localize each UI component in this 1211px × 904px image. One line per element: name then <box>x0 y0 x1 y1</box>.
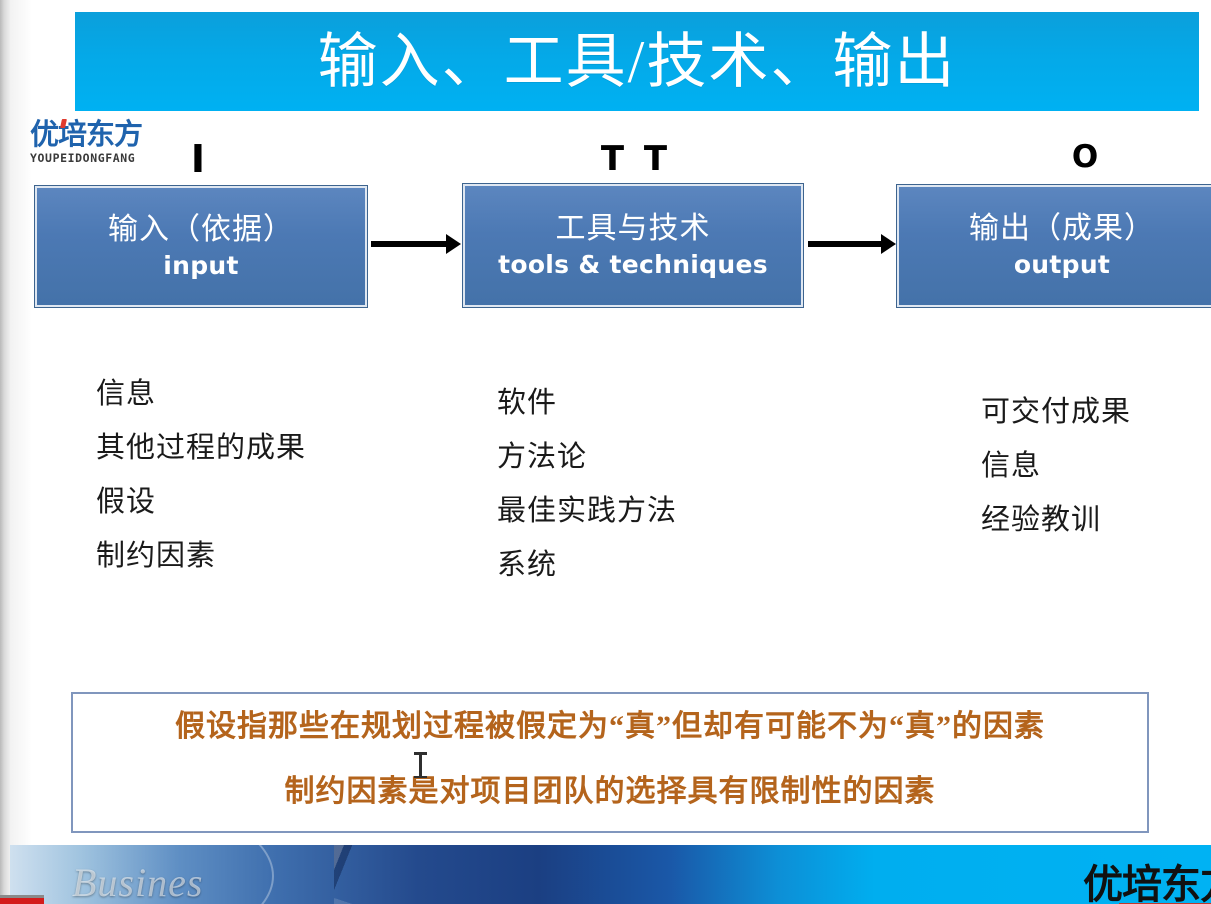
process-box-tools: 工具与技术 tools & techniques <box>463 184 803 307</box>
process-box-input-en: input <box>163 250 239 282</box>
note-line-assumptions: 假设指那些在规划过程被假定为“真”但却有可能不为“真”的因素 <box>175 708 1045 746</box>
arrow-tools-to-output-icon <box>808 241 882 247</box>
taskbar-red-sliver <box>0 898 44 904</box>
label-tools-letter: T T <box>600 142 672 176</box>
process-box-input: 输入（依据） input <box>35 186 367 307</box>
definition-note-box: 假设指那些在规划过程被假定为“真”但却有可能不为“真”的因素 制约因素是对项目团… <box>71 692 1149 833</box>
process-box-output-en: output <box>1014 249 1110 281</box>
list-item: 信息 <box>96 367 306 421</box>
brand-logo-cn-text: 优培东方 <box>30 117 142 151</box>
list-column-output: 可交付成果 信息 经验教训 <box>981 385 1131 547</box>
list-column-tools: 软件 方法论 最佳实践方法 系统 <box>497 376 677 592</box>
note-line-constraints: 制约因素是对项目团队的选择具有限制性的因素 <box>285 773 936 811</box>
brand-logo-en: YOUPEIDONGFANG <box>30 151 170 165</box>
list-item: 最佳实践方法 <box>497 484 677 538</box>
list-column-input: 信息 其他过程的成果 假设 制约因素 <box>96 367 306 583</box>
list-item: 假设 <box>96 475 306 529</box>
footer-keyboard-texture <box>334 845 766 904</box>
list-item: 制约因素 <box>96 529 306 583</box>
slide-left-margin <box>10 0 32 845</box>
brand-logo-cn: 优培东方 <box>30 118 170 150</box>
process-box-input-cn: 输入（依据） <box>108 212 294 248</box>
label-input-letter: I <box>168 140 228 178</box>
process-box-output: 输出（成果） output <box>897 185 1211 307</box>
page-title: 输入、工具/技术、输出 <box>318 32 957 92</box>
list-item: 其他过程的成果 <box>96 421 306 475</box>
process-box-output-cn: 输出（成果） <box>969 211 1155 247</box>
arrow-input-to-tools-icon <box>371 241 447 247</box>
slide-canvas: 输入、工具/技术、输出 优培东方 YOUPEIDONGFANG I T T O … <box>0 0 1211 904</box>
window-left-edge <box>0 0 10 904</box>
process-box-tools-en: tools & techniques <box>498 249 768 281</box>
list-item: 可交付成果 <box>981 385 1131 439</box>
process-box-tools-cn: 工具与技术 <box>556 211 711 247</box>
footer-brand-logo: 优培东方 <box>1083 852 1211 904</box>
slide-title-bar: 输入、工具/技术、输出 <box>75 12 1199 111</box>
slide-footer-banner: Busines 优培东方 <box>10 845 1211 904</box>
brand-logo: 优培东方 YOUPEIDONGFANG <box>30 118 170 170</box>
list-item: 软件 <box>497 376 677 430</box>
list-item: 系统 <box>497 538 677 592</box>
label-output-letter: O <box>1055 142 1115 173</box>
list-item: 方法论 <box>497 430 677 484</box>
list-item: 经验教训 <box>981 493 1131 547</box>
list-item: 信息 <box>981 439 1131 493</box>
footer-business-word: Busines <box>72 859 203 904</box>
